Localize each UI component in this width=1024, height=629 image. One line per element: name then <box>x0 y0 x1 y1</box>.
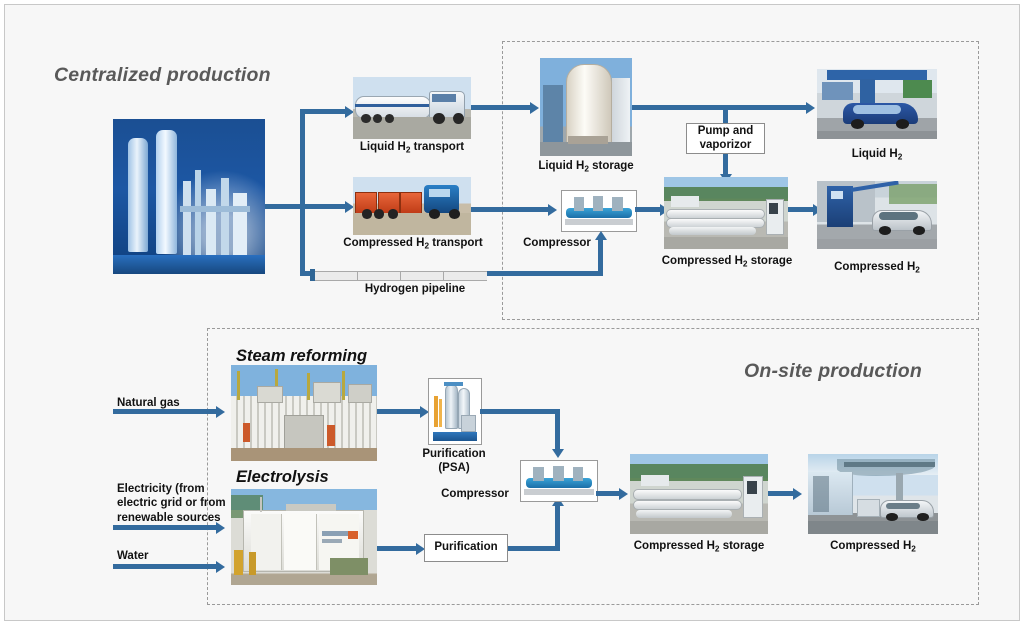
arrowhead-to-compressed-storage-bottom <box>619 488 628 500</box>
connector-electricity <box>113 525 219 530</box>
connector-pump-tap <box>723 105 728 125</box>
electrolysis-image <box>231 489 377 585</box>
steam-reforming-title: Steam reforming <box>236 347 367 366</box>
compressor-bottom-caption: Compressor <box>433 488 517 502</box>
pump-label-line1: Pump and <box>698 125 754 137</box>
connector-water <box>113 564 219 569</box>
connector-psa-drop <box>555 409 560 451</box>
connector-storage-to-dispenser-bottom <box>768 491 796 496</box>
compressed-h2-storage-top-image <box>664 177 788 249</box>
liquid-h2-storage-image <box>540 58 632 156</box>
purification-box[interactable]: Purification <box>424 534 508 562</box>
arrowhead-pipeline-to-compressor <box>595 231 607 240</box>
connector-psa-run <box>480 409 560 414</box>
arrowhead-to-liquid-dispenser <box>806 102 815 114</box>
connector-branch-to-liquid-transport <box>300 109 348 114</box>
connector-natural-gas <box>113 409 219 414</box>
diagram-canvas: Centralized production On-site productio… <box>4 4 1020 621</box>
connector-reforming-to-psa <box>377 409 423 414</box>
compressed-h2-transport-image <box>353 177 471 235</box>
electrolysis-title: Electrolysis <box>236 468 329 487</box>
liquid-h2-dispenser-caption: Liquid H2 <box>817 148 937 162</box>
arrowhead-to-liquid-storage <box>530 102 539 114</box>
hydrogen-pipeline-caption: Hydrogen pipeline <box>345 283 485 297</box>
compressed-h2-storage-top-caption: Compressed H2 storage <box>654 255 800 269</box>
pump-label-line2: vaporizor <box>700 139 752 151</box>
connector-compressor-to-storage-bottom <box>596 491 621 496</box>
compressed-h2-dispenser-bottom-caption: Compressed H2 <box>808 540 938 554</box>
arrowhead-to-compressed-dispenser-bottom <box>793 488 802 500</box>
compressed-h2-transport-caption: Compressed H2 transport <box>335 237 491 251</box>
connector-pipeline-run <box>487 271 603 276</box>
connector-liquid-storage-to-dispenser <box>632 105 809 110</box>
arrowhead-water <box>216 561 225 573</box>
liquid-h2-transport-caption: Liquid H2 transport <box>345 141 479 155</box>
compressed-h2-dispenser-top-caption: Compressed H2 <box>813 261 941 275</box>
connector-compressor-to-storage-top <box>635 207 663 212</box>
purification-label: Purification <box>434 541 497 554</box>
arrowhead-electricity <box>216 522 225 534</box>
compressed-h2-storage-bottom-image <box>630 454 768 534</box>
psa-caption-line2: (PSA) <box>438 462 469 474</box>
onsite-production-title: On-site production <box>744 360 922 383</box>
centralized-production-title: Centralized production <box>54 64 271 87</box>
centralized-production-plant-image <box>113 119 265 274</box>
liquid-h2-storage-caption: Liquid H2 storage <box>521 160 651 174</box>
hydrogen-pipeline-graphic <box>315 271 487 281</box>
compressed-h2-dispenser-bottom-image <box>808 454 938 534</box>
compressor-top-caption: Compressor <box>515 237 599 251</box>
purification-psa-caption: Purification (PSA) <box>412 447 496 476</box>
pump-and-vaporizor-box[interactable]: Pump and vaporizor <box>686 123 765 154</box>
purification-psa-image <box>428 378 482 445</box>
compressed-h2-dispenser-top-image <box>817 181 937 249</box>
liquid-h2-dispenser-image <box>817 69 937 139</box>
arrowhead-natural-gas <box>216 406 225 418</box>
connector-branch-to-compressed-transport <box>300 204 348 209</box>
connector-liquid-transport-to-storage <box>471 105 533 110</box>
connector-pipeline-riser <box>598 239 603 276</box>
connector-plant-to-branch <box>265 204 305 209</box>
arrowhead-psa-to-compressor <box>552 449 564 458</box>
connector-electrolysis-to-purification <box>377 546 419 551</box>
steam-reforming-image <box>231 365 377 461</box>
connector-storage-to-dispenser-top <box>788 207 816 212</box>
compressor-bottom-image <box>520 460 598 502</box>
compressor-top-image <box>561 190 637 232</box>
psa-caption-line1: Purification <box>422 448 485 460</box>
connector-purification-riser <box>555 505 560 551</box>
arrowhead-to-compressor-top <box>548 204 557 216</box>
connector-compressed-transport-to-compressor <box>471 207 551 212</box>
electricity-label: Electricity (from electric grid or from … <box>117 482 233 525</box>
connector-purification-run <box>508 546 560 551</box>
liquid-h2-transport-image <box>353 77 471 139</box>
connector-pump-to-storage <box>723 154 728 176</box>
compressed-h2-storage-bottom-caption: Compressed H2 storage <box>626 540 772 554</box>
connector-branch-riser <box>300 109 305 276</box>
water-label: Water <box>117 549 247 563</box>
